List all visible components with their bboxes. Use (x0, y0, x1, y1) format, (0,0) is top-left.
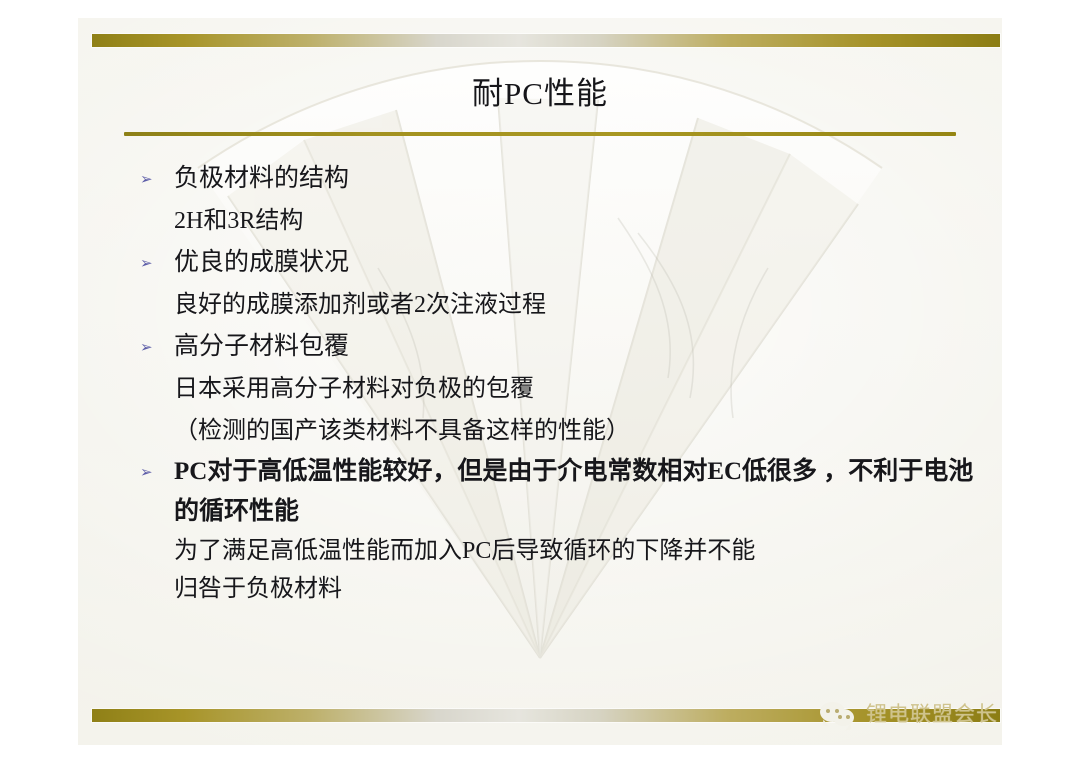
bullet-item: ➢ 高分子材料包覆 (126, 326, 986, 368)
bullet-arrow-icon: ➢ (140, 242, 158, 284)
bullet-text: 优良的成膜状况 (174, 249, 349, 276)
bullet-item: ➢ 优良的成膜状况 (126, 242, 986, 284)
bullet-arrow-icon: ➢ (140, 326, 158, 368)
content-block: ➢ PC对于高低温性能较好，但是由于介电常数相对EC低很多 ，不利于电池的循环性… (126, 452, 986, 608)
sub-line: （检测的国产该类材料不具备这样的性能） (126, 410, 986, 452)
top-gold-bar (92, 34, 1000, 47)
content-block: ➢ 高分子材料包覆 日本采用高分子材料对负极的包覆 （检测的国产该类材料不具备这… (126, 326, 986, 452)
bullet-arrow-icon: ➢ (140, 452, 158, 494)
slide-card: 耐PC性能 ➢ 负极材料的结构 2H和3R结构 ➢ 优良的成膜状况 良好的成膜添… (78, 18, 1002, 745)
sub-line: 2H和3R结构 (126, 200, 986, 242)
bullet-item: ➢ PC对于高低温性能较好，但是由于介电常数相对EC低很多 ，不利于电池的循环性… (126, 452, 986, 532)
bottom-gold-bar (92, 709, 1000, 722)
sub-line: 归咎于负极材料 (126, 570, 986, 608)
sub-line: 为了满足高低温性能而加入PC后导致循环的下降并不能 (126, 532, 986, 570)
bullet-text: 高分子材料包覆 (174, 333, 349, 360)
page-title: 耐PC性能 (78, 74, 1002, 114)
slide-body: ➢ 负极材料的结构 2H和3R结构 ➢ 优良的成膜状况 良好的成膜添加剂或者2次… (126, 158, 986, 608)
content-block: ➢ 负极材料的结构 2H和3R结构 (126, 158, 986, 242)
sub-line: 良好的成膜添加剂或者2次注液过程 (126, 284, 986, 326)
slide-root: 耐PC性能 ➢ 负极材料的结构 2H和3R结构 ➢ 优良的成膜状况 良好的成膜添… (0, 0, 1080, 763)
content-block: ➢ 优良的成膜状况 良好的成膜添加剂或者2次注液过程 (126, 242, 986, 326)
bullet-item: ➢ 负极材料的结构 (126, 158, 986, 200)
bullet-text: PC对于高低温性能较好，但是由于介电常数相对EC低很多 ，不利于电池的循环性能 (174, 458, 973, 525)
sub-line: 日本采用高分子材料对负极的包覆 (126, 368, 986, 410)
bullet-text: 负极材料的结构 (174, 165, 349, 192)
bullet-arrow-icon: ➢ (140, 158, 158, 200)
title-underline-rule (124, 132, 956, 136)
